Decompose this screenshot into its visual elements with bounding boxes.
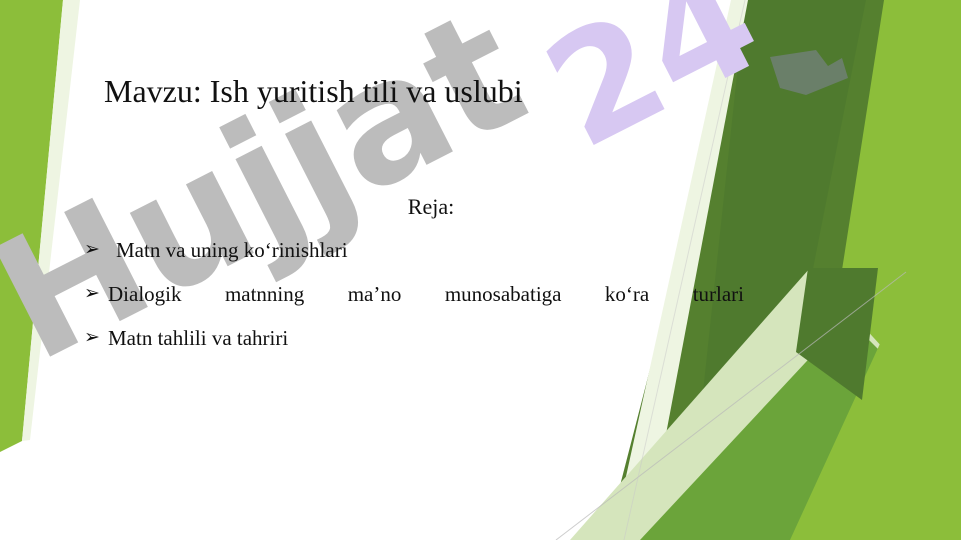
slide-subtitle-reja: Reja:	[86, 194, 776, 220]
arrowhead-bullet-icon: ➢	[84, 282, 100, 305]
slide-canvas: Hujjat 24 Mavzu: Ish yuritish tili va us…	[0, 0, 961, 540]
list-item-label: Matn tahlili va tahriri	[108, 326, 744, 350]
arrowhead-bullet-icon: ➢	[84, 238, 100, 261]
arrowhead-bullet-icon: ➢	[84, 326, 100, 349]
list-item-label: Dialogik matnning ma’no munosabatiga ko‘…	[108, 282, 744, 306]
list-item: ➢ Matn va uning ko‘rinishlari	[84, 238, 744, 262]
slide-content: Mavzu: Ish yuritish tili va uslubi Reja:…	[0, 0, 961, 540]
slide-title: Mavzu: Ish yuritish tili va uslubi	[104, 72, 824, 110]
list-item-label: Matn va uning ko‘rinishlari	[108, 238, 744, 262]
list-item: ➢ Dialogik matnning ma’no munosabatiga k…	[84, 282, 744, 306]
bullet-list: ➢ Matn va uning ko‘rinishlari ➢ Dialogik…	[84, 238, 744, 370]
list-item: ➢ Matn tahlili va tahriri	[84, 326, 744, 350]
